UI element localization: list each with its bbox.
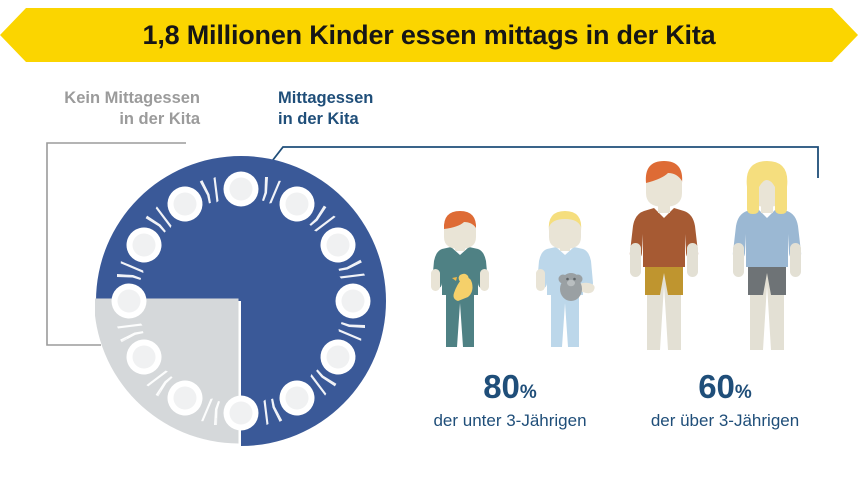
- stat-over-3-unit: %: [735, 382, 752, 404]
- stat-under-3: 80% der unter 3-Jährigen: [400, 368, 620, 432]
- label-no-lunch-line1: Kein Mittagessen: [64, 89, 200, 107]
- stat-under-3-caption: der unter 3-Jährigen: [400, 410, 620, 432]
- stat-under-3-value-row: 80%: [400, 368, 620, 406]
- label-lunch-line2: in der Kita: [278, 109, 498, 130]
- infographic-root: 1,8 Millionen Kinder essen mittags in de…: [0, 0, 858, 492]
- figure-older-boy: [630, 161, 698, 350]
- label-no-lunch-line2: in der Kita: [10, 109, 200, 130]
- stat-under-3-value: 80: [483, 368, 520, 406]
- figure-toddler-girl: [536, 211, 595, 347]
- stat-over-3-caption: der über 3-Jährigen: [615, 410, 835, 432]
- label-lunch-line1: Mittagessen: [278, 89, 373, 107]
- stat-under-3-unit: %: [520, 382, 537, 404]
- label-no-lunch: Kein Mittagessen in der Kita: [10, 88, 200, 130]
- people-figures: [400, 155, 840, 370]
- label-lunch: Mittagessen in der Kita: [278, 88, 498, 130]
- figure-toddler-boy: [431, 211, 489, 347]
- figures-svg: [400, 155, 840, 370]
- stat-over-3: 60% der über 3-Jährigen: [615, 368, 835, 432]
- stats-row: 80% der unter 3-Jährigen 60% der über 3-…: [400, 368, 840, 438]
- stat-over-3-value: 60: [698, 368, 735, 406]
- figure-older-girl: [733, 161, 801, 350]
- pie-chart-table: [95, 155, 387, 447]
- page-title: 1,8 Millionen Kinder essen mittags in de…: [0, 8, 858, 62]
- pie-svg: [95, 155, 387, 447]
- stat-over-3-value-row: 60%: [615, 368, 835, 406]
- page-title-text: 1,8 Millionen Kinder essen mittags in de…: [143, 20, 716, 51]
